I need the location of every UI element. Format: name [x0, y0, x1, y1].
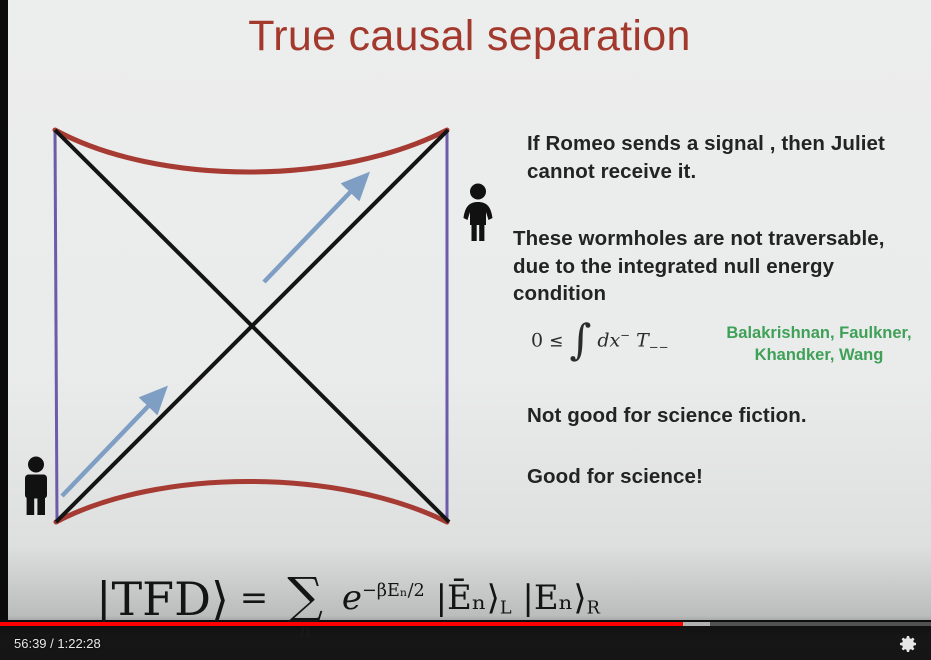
citation-line-1: Balakrishnan, Faulkner,	[709, 322, 929, 344]
page-title: True causal separation	[8, 12, 931, 61]
tfd-exp-base: e	[342, 578, 362, 618]
juliet-female-figure-icon	[456, 182, 500, 244]
tfd-ket-right: |Eₙ⟩	[522, 578, 586, 618]
future-singularity-curve	[55, 130, 447, 172]
settings-gear-button[interactable]: Settings	[895, 632, 923, 656]
tfd-ket-left: |Ēₙ⟩	[436, 578, 500, 618]
nec-zero: 0	[531, 329, 543, 351]
presentation-slide: True causal separation	[8, 0, 931, 620]
paragraph-not-good-sci-fi: Not good for science fiction.	[527, 402, 807, 430]
nec-leq: ≤	[549, 331, 563, 351]
tfd-state-equation: |TFD⟩ = ∑ n e−βEₙ/2 |Ēₙ⟩L |Eₙ⟩R	[96, 566, 600, 622]
citation-authors: Balakrishnan, Faulkner, Khandker, Wang	[709, 322, 929, 367]
nec-minus-superscript: −	[620, 328, 630, 342]
video-player[interactable]: True causal separation	[0, 0, 931, 660]
progress-bar-track[interactable]	[0, 622, 931, 626]
nec-integral-sign: ∫	[569, 315, 591, 364]
tfd-exp-power: −βEₙ/2	[362, 581, 425, 601]
time-display: 56:39 / 1:22:28	[14, 636, 101, 651]
signal-arrow-lower	[62, 396, 158, 496]
nec-dx: dx	[597, 329, 620, 351]
romeo-male-figure-icon	[16, 455, 56, 517]
gear-icon	[895, 632, 921, 656]
null-energy-condition-formula: 0 ≤ ∫ dx− T−−	[531, 328, 669, 354]
paragraph-good-for-science: Good for science!	[527, 463, 703, 491]
paragraph-romeo-signal: If Romeo sends a signal , then Juliet ca…	[527, 130, 927, 185]
tfd-equals: =	[240, 578, 269, 618]
nec-stress-tensor: T	[636, 329, 649, 351]
nec-tensor-subscript: −−	[649, 340, 669, 354]
past-singularity-curve	[56, 482, 447, 523]
paragraph-not-traversable: These wormholes are not traversable, due…	[513, 225, 925, 308]
player-control-bar[interactable]: 56:39 / 1:22:28 Settings	[0, 616, 931, 660]
citation-line-2: Khandker, Wang	[709, 344, 929, 366]
penrose-diagram	[8, 100, 508, 550]
progress-bar-played	[0, 622, 683, 626]
